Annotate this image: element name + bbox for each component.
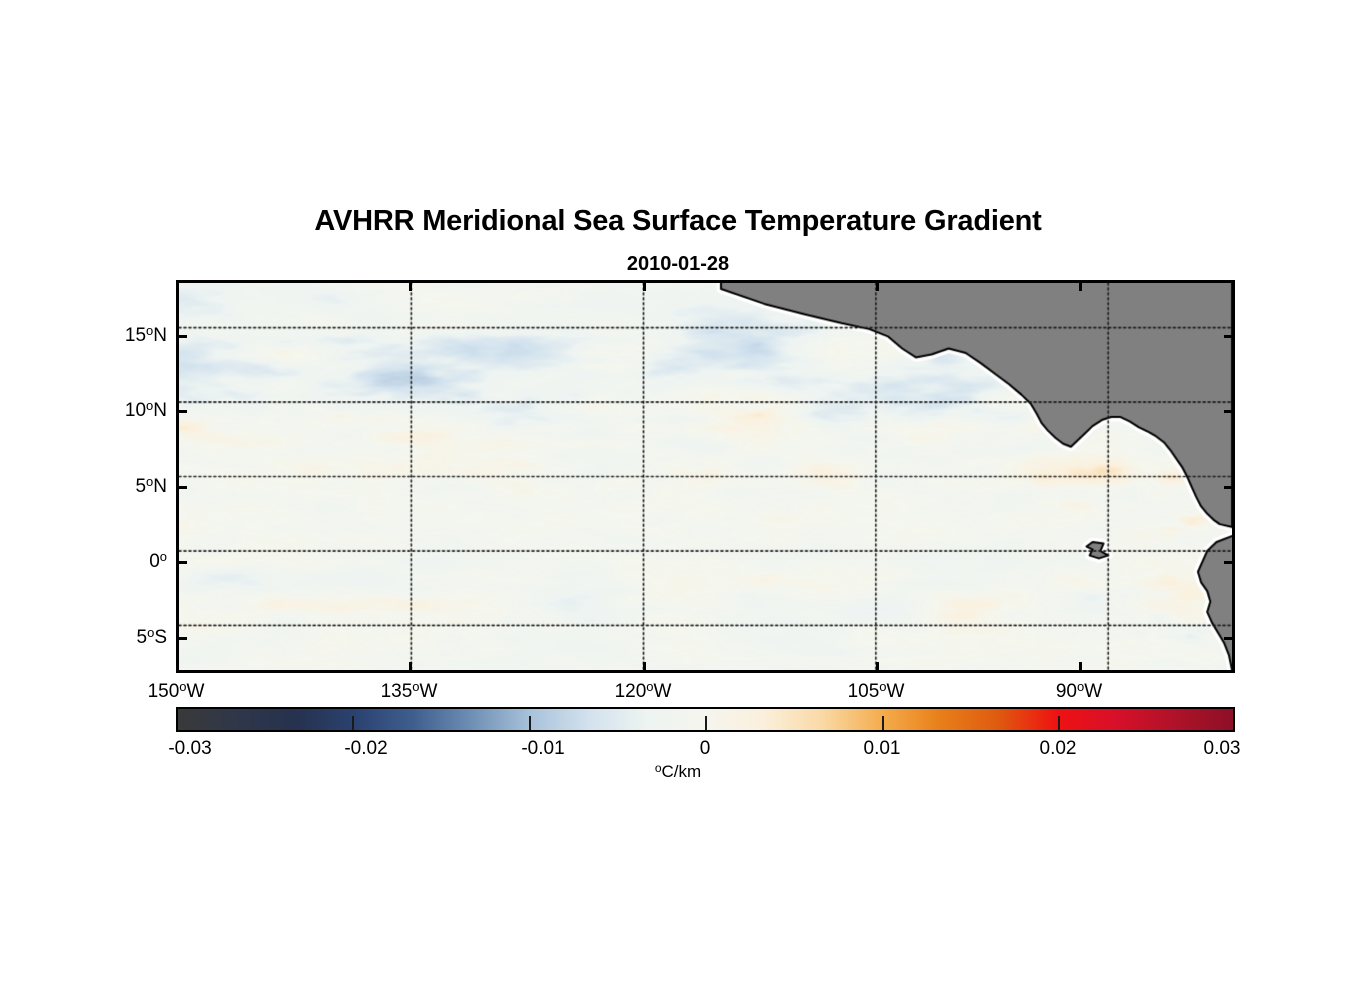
y-tick-right-10n [1224, 410, 1235, 413]
x-tick-top-90w [1079, 280, 1082, 291]
colorbar-label-0.03: 0.03 [1204, 738, 1241, 760]
x-tick-105w [876, 662, 879, 673]
y-tick-right-5s [1224, 637, 1235, 640]
colorbar-tick--0.01 [529, 716, 531, 730]
x-axis-label-120w: 120oW [615, 679, 672, 703]
x-tick-135w [409, 662, 412, 673]
x-tick-90w [1079, 662, 1082, 673]
degree-symbol-icon: o [879, 679, 886, 694]
y-tick-15n [176, 335, 187, 338]
colorbar-tick-0.01 [882, 716, 884, 730]
x-tick-120w [643, 662, 646, 673]
figure-subtitle-date: 2010-01-28 [0, 253, 1356, 276]
colorbar-tick--0.02 [352, 716, 354, 730]
x-axis-label-90w: 90oW [1056, 679, 1102, 703]
colorbar-label-0: 0 [700, 738, 711, 760]
y-tick-5s [176, 637, 187, 640]
sst-gradient-heatmap [179, 283, 1232, 670]
x-axis-label-150w: 150oW [148, 679, 205, 703]
colorbar-label--0.01: -0.01 [521, 738, 564, 760]
y-axis-label-10n: 10oN [125, 398, 167, 422]
colorbar-label--0.02: -0.02 [344, 738, 387, 760]
y-tick-right-5n [1224, 486, 1235, 489]
x-tick-top-120w [643, 280, 646, 291]
x-tick-top-135w [409, 280, 412, 291]
x-axis-label-105w: 105oW [848, 679, 905, 703]
y-tick-0 [176, 561, 187, 564]
page-title: AVHRR Meridional Sea Surface Temperature… [0, 205, 1356, 238]
degree-symbol-icon: o [646, 679, 653, 694]
colorbar-tick-0.02 [1058, 716, 1060, 730]
y-tick-right-0 [1224, 561, 1235, 564]
colorbar-tick-0 [705, 716, 707, 730]
y-axis-label-0: 0o [149, 549, 167, 573]
y-tick-10n [176, 410, 187, 413]
colorbar-label--0.03: -0.03 [168, 738, 211, 760]
y-tick-right-15n [1224, 335, 1235, 338]
map-plot-area[interactable] [176, 280, 1235, 673]
x-axis-label-135w: 135oW [381, 679, 438, 703]
colorbar-label-0.01: 0.01 [864, 738, 901, 760]
colorbar-unit-label: oC/km [0, 761, 1356, 782]
y-tick-5n [176, 486, 187, 489]
x-tick-top-105w [876, 280, 879, 291]
degree-symbol-icon: o [160, 549, 167, 564]
y-axis-label-15n: 15oN [125, 323, 167, 347]
degree-symbol-icon: o [412, 679, 419, 694]
y-axis-label-5n: 5oN [135, 474, 167, 498]
degree-symbol-icon: o [179, 679, 186, 694]
colorbar-label-0.02: 0.02 [1040, 738, 1077, 760]
y-axis-label-5s: 5oS [137, 625, 168, 649]
degree-symbol-icon: o [655, 761, 662, 775]
